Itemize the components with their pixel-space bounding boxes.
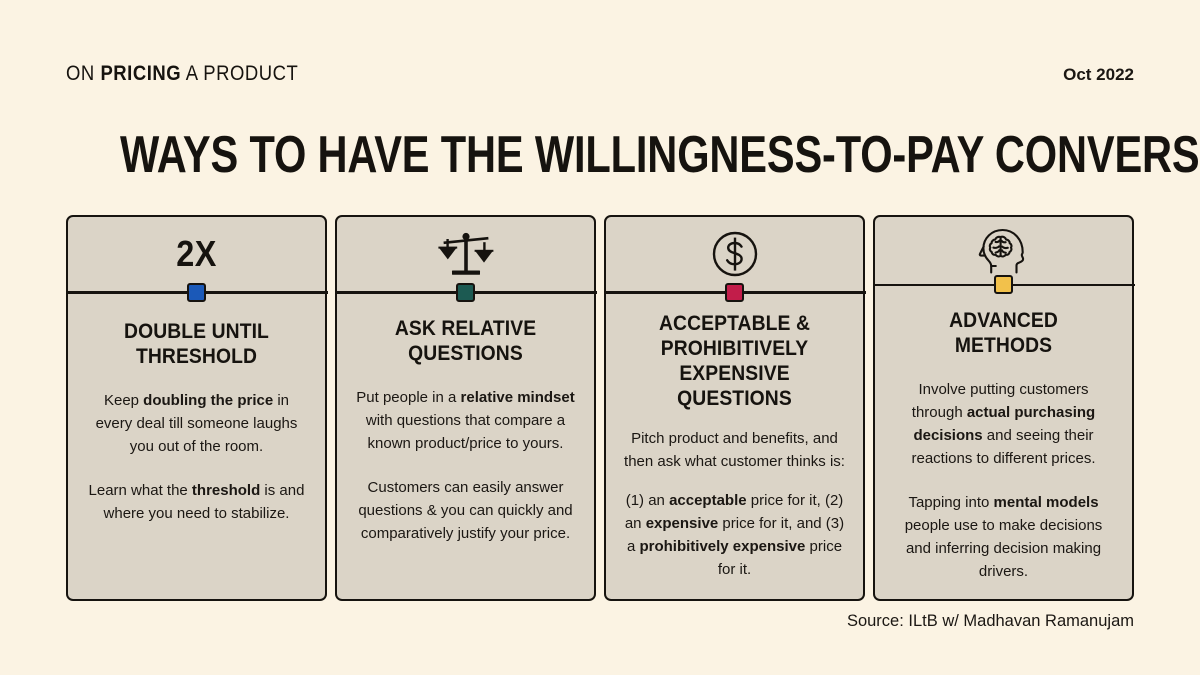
- card-paragraph: Learn what the threshold is and where yo…: [85, 479, 308, 525]
- two-x-text-icon: 2X: [176, 233, 217, 275]
- card-body: ACCEPTABLE & PROHIBITIVELY EXPENSIVE QUE…: [606, 294, 863, 600]
- page-title: WAYS TO HAVE THE WILLINGNESS-TO-PAY CONV…: [120, 126, 1080, 184]
- card-heading: ADVANCED METHODS: [901, 308, 1106, 358]
- card-marker-square: [994, 275, 1013, 294]
- balance-scale-icon: [438, 229, 494, 279]
- card-icon-zone: [606, 217, 863, 291]
- card-icon-zone: [337, 217, 594, 291]
- card-heading: ACCEPTABLE & PROHIBITIVELY EXPENSIVE QUE…: [632, 311, 837, 411]
- card-paragraph: Tapping into mental models people use to…: [892, 491, 1115, 583]
- card-paragraph: Pitch product and benefits, and then ask…: [623, 427, 846, 473]
- card-heading: ASK RELATIVE QUESTIONS: [363, 316, 568, 366]
- top-bar: ON PRICING A PRODUCT Oct 2022: [66, 62, 1134, 94]
- card-paragraph: (1) an acceptable price for it, (2) an e…: [623, 489, 846, 581]
- card-body: DOUBLE UNTIL THRESHOLD Keep doubling the…: [68, 294, 325, 600]
- card-paragraph: Put people in a relative mindset with qu…: [354, 386, 577, 455]
- card-marker-square: [187, 283, 206, 302]
- card-advanced-methods: ADVANCED METHODS Involve putting custome…: [873, 215, 1134, 601]
- kicker-suffix: A PRODUCT: [181, 62, 298, 85]
- card-heading: DOUBLE UNTIL THRESHOLD: [94, 319, 299, 369]
- card-divider: [66, 291, 328, 294]
- card-marker-square: [456, 283, 475, 302]
- kicker-bold-word: PRICING: [100, 62, 181, 85]
- card-acceptable-prohibitively-expensive: ACCEPTABLE & PROHIBITIVELY EXPENSIVE QUE…: [604, 215, 865, 601]
- card-divider: [873, 284, 1135, 286]
- card-body: ADVANCED METHODS Involve putting custome…: [875, 286, 1132, 599]
- card-divider: [335, 291, 597, 294]
- card-paragraph: Customers can easily answer questions & …: [354, 476, 577, 545]
- dollar-circle-icon: [710, 229, 760, 279]
- card-marker-square: [725, 283, 744, 302]
- kicker-prefix: ON: [66, 62, 100, 85]
- date-stamp: Oct 2022: [1063, 65, 1134, 85]
- card-paragraph: Keep doubling the price in every deal ti…: [85, 389, 308, 458]
- card-row: 2X DOUBLE UNTIL THRESHOLD Keep doubling …: [66, 215, 1134, 601]
- card-paragraph: Involve putting customers through actual…: [892, 378, 1115, 470]
- source-credit: Source: ILtB w/ Madhavan Ramanujam: [847, 612, 1134, 631]
- card-divider: [604, 291, 866, 294]
- kicker-heading: ON PRICING A PRODUCT: [66, 62, 298, 86]
- card-ask-relative-questions: ASK RELATIVE QUESTIONS Put people in a r…: [335, 215, 596, 601]
- card-body: ASK RELATIVE QUESTIONS Put people in a r…: [337, 294, 594, 600]
- card-icon-zone: [875, 217, 1132, 284]
- card-icon-zone: 2X: [68, 217, 325, 291]
- head-brain-icon: [976, 224, 1032, 276]
- card-double-until-threshold: 2X DOUBLE UNTIL THRESHOLD Keep doubling …: [66, 215, 327, 601]
